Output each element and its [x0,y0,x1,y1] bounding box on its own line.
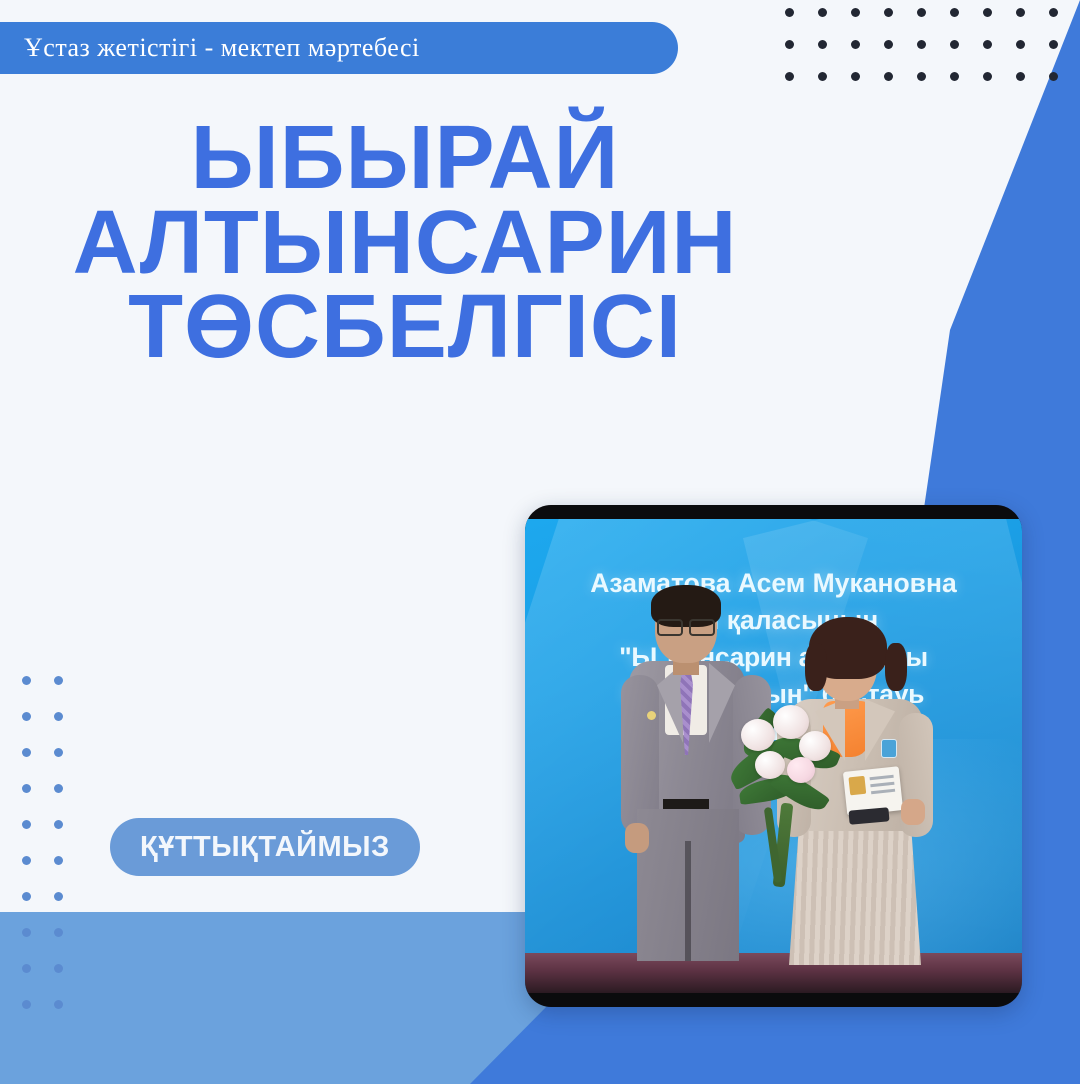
title-line-2: АЛТЫНСАРИН [48,201,762,286]
presenter-glasses-icon [657,619,715,632]
title-line-3: ТӨСБЕЛГІСІ [48,285,762,370]
caption-line-2: мей қаласының [525,602,1022,639]
caption-line-3: "Ы тынсарин атындағы [525,639,1022,676]
bouquet-rose [755,751,785,779]
poster-canvas: Ұстаз жетістігі - мектеп мәртебесі ЫБЫРА… [0,0,1080,1084]
presenter-belt [663,799,709,809]
award-photo-card: Азаматова Асем Мукановна мей қаласының "… [525,505,1022,1007]
title-line-1: ЫБЫРАЙ [48,116,762,201]
congratulations-label: ҚҰТТЫҚТАЙМЫЗ [140,831,390,864]
presenter-leg-gap [685,841,691,961]
congratulations-badge: ҚҰТТЫҚТАЙМЫЗ [110,818,420,876]
recipient-hand [901,799,925,825]
caption-line-1: Азаматова Асем Мукановна [525,565,1022,602]
recipient-hair-side-left [805,643,827,691]
bouquet-rose [787,757,815,783]
stage-floor [525,953,1022,993]
dot-grid-top-right [785,8,1080,104]
page-title: ЫБЫРАЙ АЛТЫНСАРИН ТӨСБЕЛГІСІ [48,116,762,370]
recipient-hair-side-right [885,643,907,691]
bouquet-rose [741,719,775,751]
recipient-lapel-badge-icon [881,739,897,758]
dot-grid-left [22,676,86,1036]
presenter-lapel-pin [647,711,656,720]
presenter-hand [625,823,649,853]
flower-bouquet [721,695,851,885]
top-ribbon: Ұстаз жетістігі - мектеп мәртебесі [0,22,678,74]
ribbon-text: Ұстаз жетістігі - мектеп мәртебесі [0,33,420,63]
award-photo: Азаматова Асем Мукановна мей қаласының "… [525,519,1022,993]
